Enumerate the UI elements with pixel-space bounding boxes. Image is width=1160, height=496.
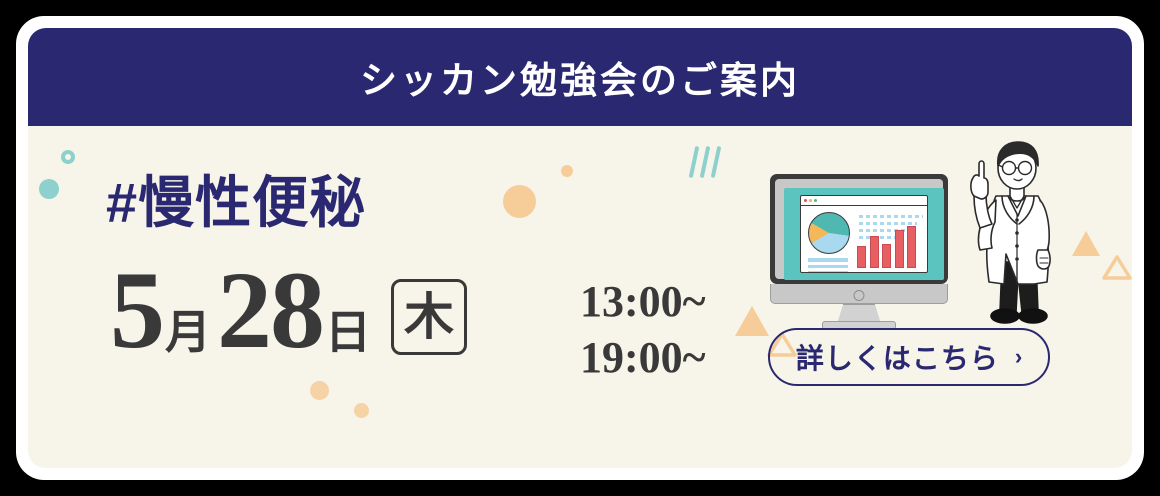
monitor-power-button-icon (854, 290, 865, 301)
date-day-number: 28 (217, 262, 323, 359)
monitor-frame (770, 174, 948, 284)
weekday-box: 木 (391, 279, 467, 355)
date-month-number: 5 (110, 262, 163, 359)
banner-body: #慢性便秘 5 月 28 日 木 13:00~ 19:00~ (28, 126, 1132, 468)
dashboard-text-lines (808, 258, 848, 273)
header-title: シッカン勉強会のご案内 (360, 50, 800, 104)
hashtag-topic: #慢性便秘 (106, 158, 366, 239)
doctor-illustration (952, 134, 1078, 330)
monitor-screen (784, 188, 944, 280)
window-maximize-dot-icon (814, 199, 817, 202)
right-content: 詳しくはこちら › (764, 126, 1132, 468)
event-date: 5 月 28 日 木 (110, 262, 467, 359)
window-titlebar (801, 196, 927, 206)
date-month-unit: 月 (165, 309, 211, 359)
weekday-label: 木 (404, 292, 454, 342)
bar-chart-icon (857, 224, 923, 268)
dashboard-window (800, 195, 928, 273)
left-content: #慢性便秘 5 月 28 日 木 13:00~ 19:00~ (28, 126, 788, 468)
details-cta-button[interactable]: 詳しくはこちら › (768, 328, 1050, 386)
details-cta-label: 詳しくはこちら (796, 337, 999, 377)
pie-chart-icon (808, 212, 850, 254)
monitor-illustration (770, 174, 948, 326)
orange-triangle-outline-right-icon (1102, 254, 1132, 280)
event-time-2: 19:00~ (580, 330, 706, 386)
window-minimize-dot-icon (809, 199, 812, 202)
event-times: 13:00~ 19:00~ (580, 274, 706, 387)
dashboard-dotrow-1 (859, 215, 923, 218)
chevron-right-icon: › (1015, 346, 1022, 368)
banner-card: シッカン勉強会のご案内 #慢性便秘 5 月 (16, 16, 1144, 480)
event-time-1: 13:00~ (580, 274, 706, 330)
date-day-unit: 日 (325, 309, 371, 359)
monitor-bezel (775, 179, 943, 279)
banner-inner: シッカン勉強会のご案内 #慢性便秘 5 月 (28, 28, 1132, 468)
window-close-dot-icon (804, 199, 807, 202)
banner-header: シッカン勉強会のご案内 (28, 28, 1132, 126)
monitor-chin (770, 284, 948, 304)
